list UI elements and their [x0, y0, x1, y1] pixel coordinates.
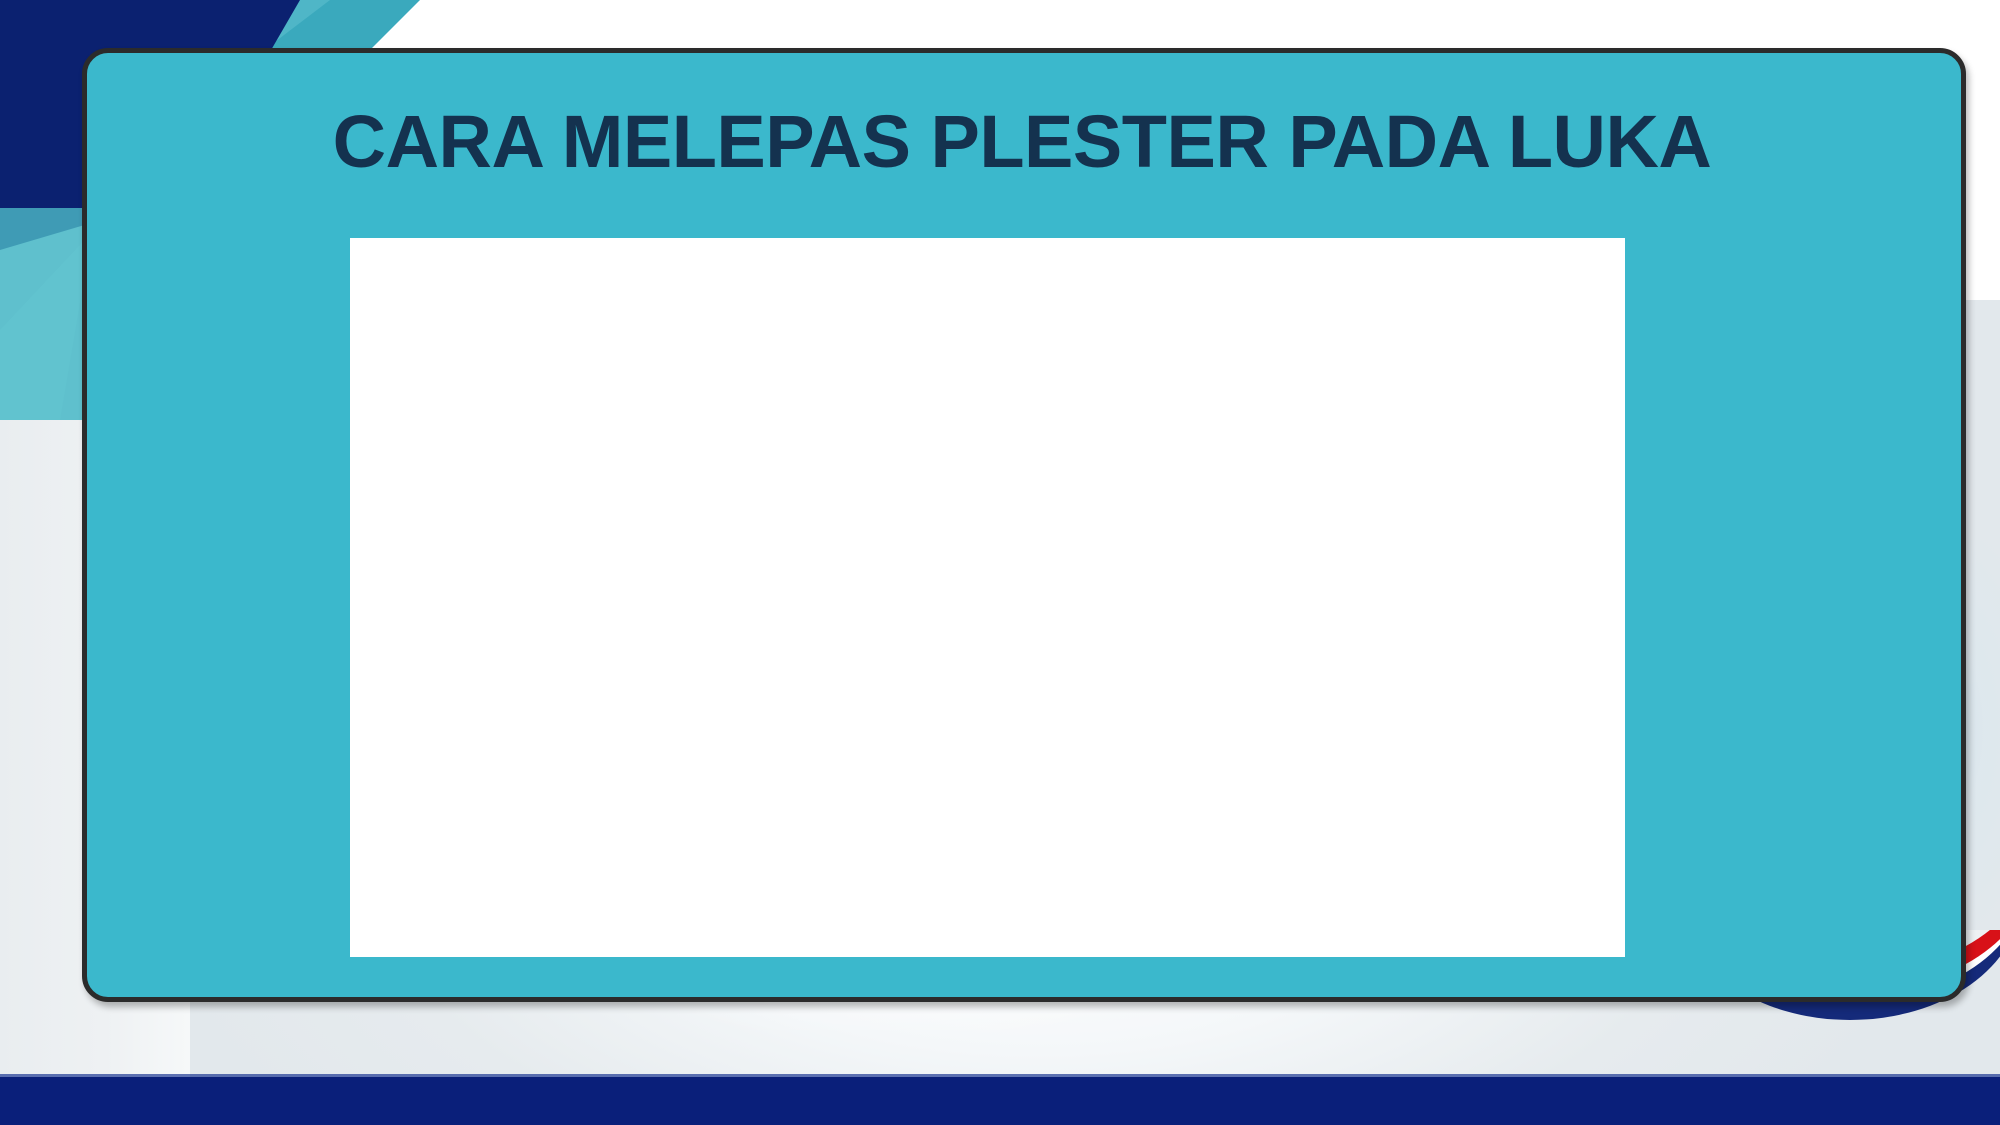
- footer-band: [0, 1077, 2000, 1125]
- content-placeholder-box[interactable]: [350, 238, 1625, 957]
- page-title: CARA MELEPAS PLESTER PADA LUKA: [142, 105, 1902, 179]
- main-panel: CARA MELEPAS PLESTER PADA LUKA: [82, 48, 1966, 1002]
- slide-canvas: CARA MELEPAS PLESTER PADA LUKA: [0, 0, 2000, 1125]
